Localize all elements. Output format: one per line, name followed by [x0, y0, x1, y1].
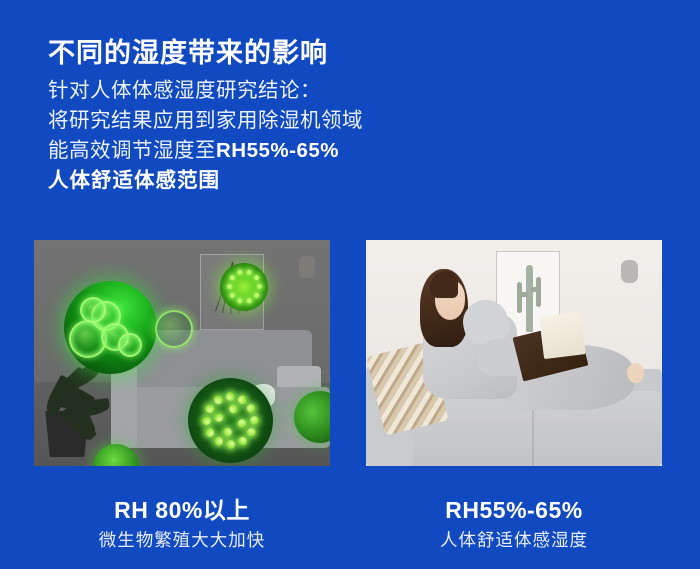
virus-spike: [212, 435, 224, 447]
page-title: 不同的湿度带来的影响: [48, 36, 328, 70]
sofa-armrest: [111, 363, 137, 448]
virus-spike: [245, 402, 257, 414]
virus-spike: [212, 393, 224, 405]
panel-comfort-humidity: [366, 240, 662, 466]
virus-spike: [227, 284, 232, 289]
germ-cell: [118, 333, 142, 357]
book-page: [540, 311, 587, 359]
poster-canvas: 不同的湿度带来的影响 针对人体体感湿度研究结论： 将研究结果应用到家用除湿机领域…: [0, 0, 700, 569]
virus-spike: [245, 426, 257, 438]
virus-spike: [226, 392, 235, 401]
body-copy-line-1: 针对人体体感湿度研究结论：: [48, 76, 363, 106]
body-copy: 针对人体体感湿度研究结论： 将研究结果应用到家用除湿机领域 能高效调节湿度至RH…: [48, 76, 363, 196]
virus-spike: [236, 393, 248, 405]
virus-spike: [236, 418, 247, 429]
virus-spike: [253, 292, 260, 299]
caption-title: RH55%-65%: [366, 496, 662, 525]
woman-foot: [627, 363, 644, 383]
body-copy-line-3-regular: 能高效调节湿度至: [48, 139, 216, 162]
virus-spike: [250, 416, 259, 425]
virus-sphere-floor: [188, 378, 273, 463]
caption-subtitle: 人体舒适体感湿度: [366, 528, 662, 552]
virus-spike: [203, 402, 215, 414]
caption-comfort-humidity: RH55%-65% 人体舒适体感湿度: [366, 496, 662, 552]
body-copy-line-2: 将研究结果应用到家用除湿机领域: [48, 106, 363, 136]
germ-cluster-large: [64, 281, 157, 374]
virus-sphere-wall: [220, 263, 268, 311]
virus-spike: [246, 298, 252, 304]
body-copy-line-3-highlight: RH55%-65%: [216, 139, 339, 162]
virus-spike: [229, 292, 236, 299]
virus-spike: [236, 435, 248, 447]
virus-spike: [237, 298, 243, 304]
virus-spike: [203, 426, 215, 438]
woman-reading: [396, 258, 645, 439]
virus-spike: [202, 416, 211, 425]
virus-spike: [257, 284, 262, 289]
virus-spike: [229, 274, 236, 281]
virus-spike: [246, 269, 252, 275]
virus-spike: [253, 274, 260, 281]
photo-woman-reading-on-sofa: [366, 240, 662, 466]
virus-spike: [213, 412, 224, 423]
body-copy-line-4: 人体舒适体感范围: [48, 166, 363, 196]
caption-high-humidity: RH 80%以上 微生物繁殖大大加快: [34, 496, 330, 552]
wall-speaker: [299, 256, 315, 278]
photo-dim-room-with-germs: [34, 240, 330, 466]
caption-title: RH 80%以上: [34, 496, 330, 525]
virus-spike: [222, 426, 233, 437]
panel-high-humidity: [34, 240, 330, 466]
virus-spike: [228, 403, 239, 414]
caption-subtitle: 微生物繁殖大大加快: [34, 528, 330, 552]
body-copy-line-3: 能高效调节湿度至RH55%-65%: [48, 136, 363, 166]
virus-spike: [237, 269, 243, 275]
virus-spike: [226, 440, 235, 449]
woman-hair-fringe: [430, 271, 457, 298]
